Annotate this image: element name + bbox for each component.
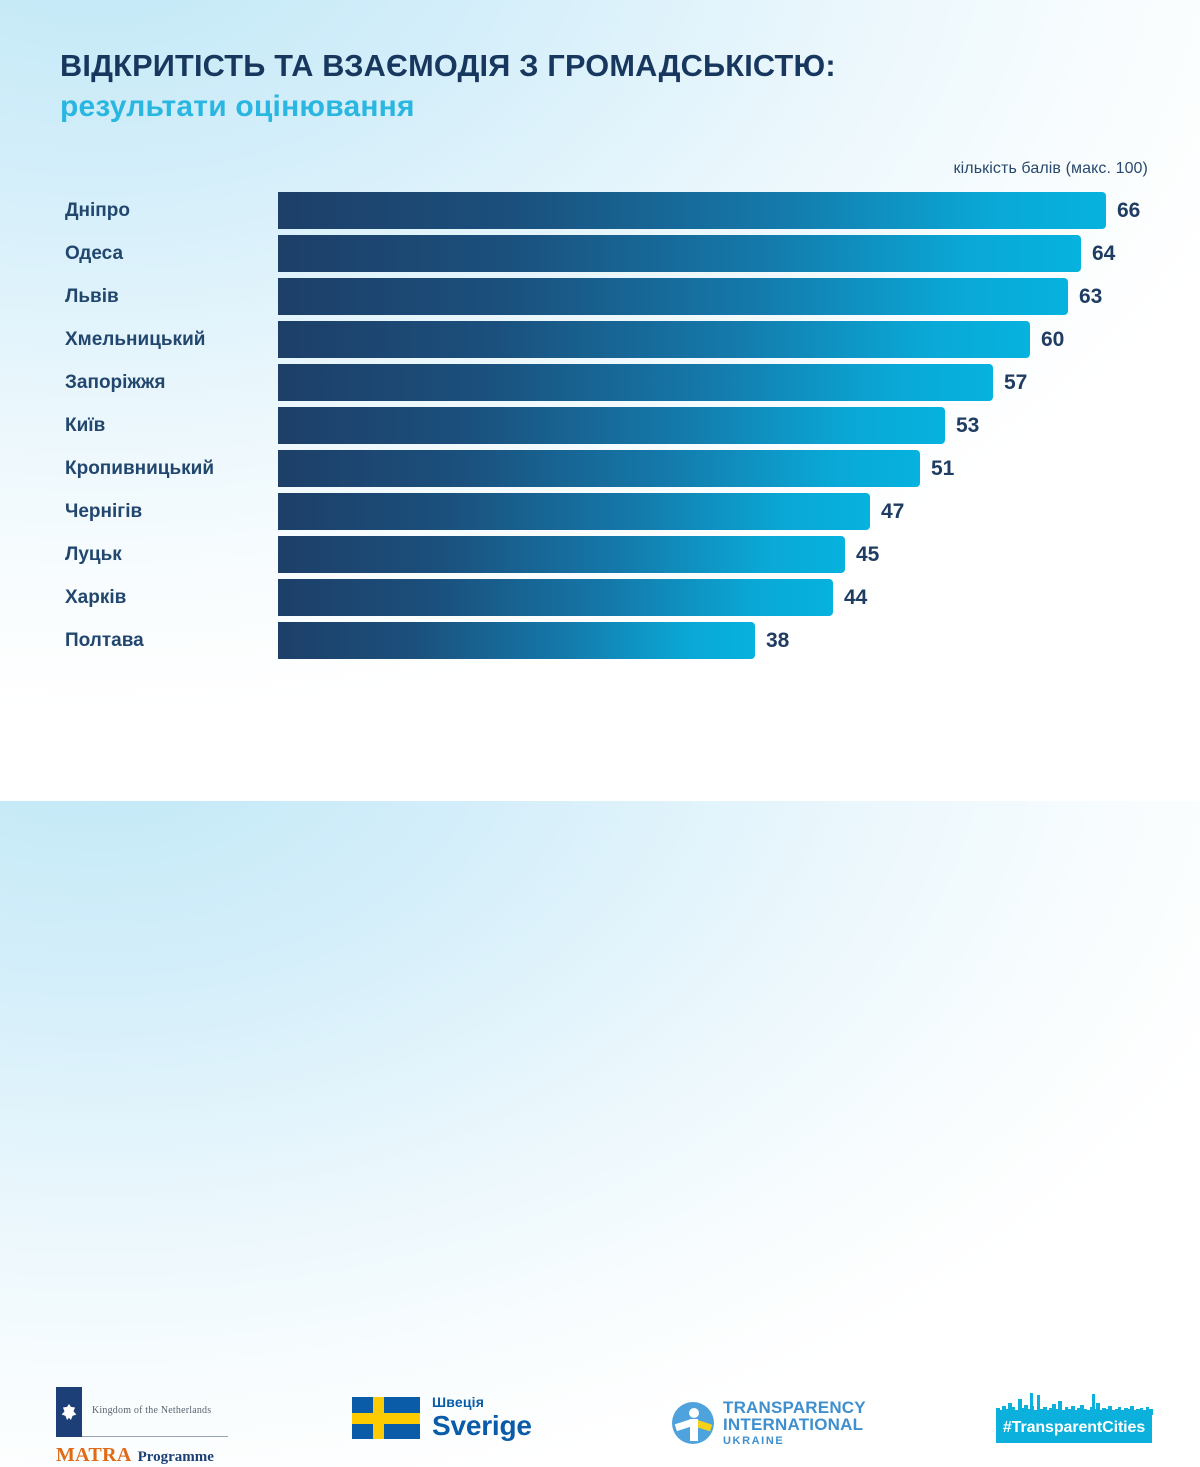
sweden-flag-icon	[352, 1397, 420, 1439]
transparency-international-figure-icon	[672, 1402, 714, 1444]
ti-head-shape	[689, 1408, 699, 1418]
matra-programme-label: Programme	[138, 1449, 214, 1465]
chart-bar	[278, 622, 755, 659]
chart-row-label: Київ	[0, 407, 243, 444]
chart-row-label: Запоріжжя	[0, 364, 243, 401]
logo-matra-programme: Kingdom of the Netherlands MATRAProgramm…	[56, 1387, 256, 1467]
netherlands-ribbon	[56, 1387, 82, 1437]
netherlands-crest-icon	[61, 1404, 77, 1420]
page-header: ВІДКРИТІСТЬ ТА ВЗАЄМОДІЯ З ГРОМАДСЬКІСТЮ…	[60, 48, 1160, 124]
chart-bar	[278, 536, 845, 573]
logo-transparent-cities: #TransparentCities	[996, 1393, 1152, 1443]
chart-bar-value: 53	[956, 407, 979, 444]
chart-bar-value: 38	[766, 622, 789, 659]
chart-bar-value: 47	[881, 493, 904, 530]
transparency-line2: INTERNATIONAL	[723, 1416, 866, 1433]
logo-sweden: Швеція Sverige	[352, 1395, 532, 1440]
chart-row-label: Полтава	[0, 622, 243, 659]
chart-row: Київ53	[0, 407, 1200, 444]
chart-bar-value: 66	[1117, 192, 1140, 229]
chart-bar	[278, 364, 993, 401]
transparency-wordmark: TRANSPARENCY INTERNATIONAL UKRAINE	[723, 1399, 866, 1447]
chart-bar-value: 64	[1092, 235, 1115, 272]
chart-row-label: Одеса	[0, 235, 243, 272]
chart-row: Львів63	[0, 278, 1200, 315]
matra-divider	[82, 1436, 228, 1437]
chart-bar	[278, 407, 945, 444]
transparent-cities-hashtag: #TransparentCities	[996, 1415, 1152, 1443]
chart-row: Одеса64	[0, 235, 1200, 272]
chart-row: Хмельницький60	[0, 321, 1200, 358]
chart-row: Кропивницький51	[0, 450, 1200, 487]
chart-bar-value: 60	[1041, 321, 1064, 358]
chart-bar-value: 57	[1004, 364, 1027, 401]
chart-row: Луцьк45	[0, 536, 1200, 573]
ti-body-shape	[690, 1419, 698, 1441]
page-subtitle: результати оцінювання	[60, 90, 1160, 125]
chart-row: Запоріжжя57	[0, 364, 1200, 401]
chart-row: Чернігів47	[0, 493, 1200, 530]
logo-transparency-international-ukraine: TRANSPARENCY INTERNATIONAL UKRAINE	[672, 1399, 866, 1447]
kingdom-of-netherlands-label: Kingdom of the Netherlands	[92, 1405, 211, 1416]
chart-row: Харків44	[0, 579, 1200, 616]
chart-bar-value: 45	[856, 536, 879, 573]
chart-bar-value: 63	[1079, 278, 1102, 315]
chart-row-label: Хмельницький	[0, 321, 243, 358]
chart-bar-value: 51	[931, 450, 954, 487]
chart-bar-value: 44	[844, 579, 867, 616]
chart-row-label: Харків	[0, 579, 243, 616]
chart-bar	[278, 235, 1081, 272]
matra-wordmark: MATRAProgramme	[56, 1444, 256, 1467]
page-title: ВІДКРИТІСТЬ ТА ВЗАЄМОДІЯ З ГРОМАДСЬКІСТЮ…	[60, 48, 1149, 84]
chart-bar	[278, 321, 1030, 358]
chart-row-label: Чернігів	[0, 493, 243, 530]
matra-header-block: Kingdom of the Netherlands	[56, 1387, 256, 1437]
transparency-line1: TRANSPARENCY	[723, 1399, 866, 1416]
chart-row-label: Львів	[0, 278, 243, 315]
city-skyline-icon	[996, 1393, 1152, 1415]
footer-logos: Kingdom of the Netherlands MATRAProgramm…	[0, 681, 1200, 801]
chart-row: Дніпро66	[0, 192, 1200, 229]
chart-bar	[278, 493, 870, 530]
chart-row-label: Луцьк	[0, 536, 243, 573]
chart-row: Полтава38	[0, 622, 1200, 659]
chart-bar	[278, 192, 1106, 229]
chart-bar	[278, 450, 920, 487]
sweden-label-sv: Sverige	[432, 1412, 532, 1440]
sweden-wordmark: Швеція Sverige	[432, 1395, 532, 1440]
chart-row-label: Кропивницький	[0, 450, 243, 487]
bar-chart: Дніпро66Одеса64Львів63Хмельницький60Запо…	[0, 192, 1200, 665]
chart-bar	[278, 278, 1068, 315]
chart-row-label: Дніпро	[0, 192, 243, 229]
chart-axis-note: кількість балів (макс. 100)	[954, 160, 1148, 178]
matra-word-label: MATRA	[56, 1444, 132, 1466]
transparency-line3: UKRAINE	[723, 1436, 866, 1447]
sweden-label-uk: Швеція	[432, 1395, 532, 1409]
chart-bar	[278, 579, 833, 616]
